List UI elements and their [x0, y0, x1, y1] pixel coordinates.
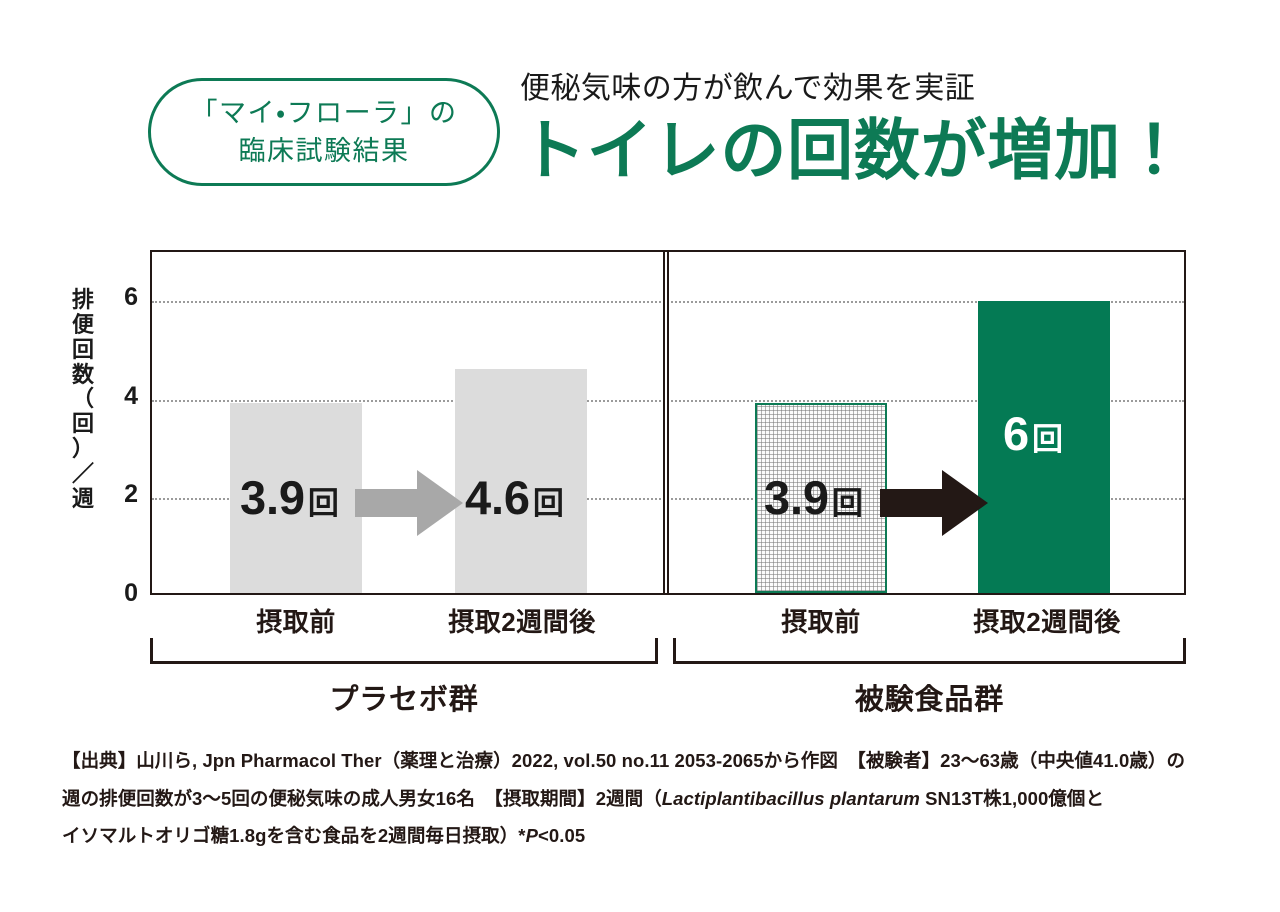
clinical-trial-badge: 「マイ・フローラ」の 臨床試験結果: [148, 78, 500, 186]
page-title: トイレの回数が増加！: [520, 115, 1260, 186]
group-bracket-placebo: [150, 638, 658, 664]
footnote: 【出典】山川ら, Jpn Pharmacol Ther（薬理と治療）2022, …: [62, 742, 1227, 855]
badge-line-1: 「マイ・フローラ」の: [190, 94, 457, 132]
headline-block: 便秘気味の方が飲んで効果を実証 トイレの回数が増加！: [520, 72, 1260, 186]
bar-value-placebo-before: 3.9回: [240, 474, 339, 521]
black-right-arrow-icon: [880, 470, 988, 536]
category-label-test-after: 摂取2週間後: [955, 602, 1139, 639]
bar-value-unit: 回: [533, 486, 564, 521]
bar-value-unit: 回: [832, 486, 863, 521]
group-label-test: 被験食品群: [673, 676, 1186, 718]
group-bracket-test: [673, 638, 1186, 664]
footnote-line-2: 週の排便回数が3〜5回の便秘気味の成人男女16名 【摂取期間】2週間（Lacti…: [62, 780, 1227, 818]
bar-value-test-after: 6回: [1003, 410, 1063, 457]
footnote-line-1: 【出典】山川ら, Jpn Pharmacol Ther（薬理と治療）2022, …: [62, 742, 1227, 780]
panel-divider: [663, 252, 669, 593]
category-label-test-before: 摂取前: [753, 602, 889, 639]
bar-value-number: 4.6: [465, 471, 530, 524]
p-value-symbol: P: [526, 825, 538, 846]
species-name: Lactiplantibacillus plantarum: [662, 788, 920, 809]
footnote-line-3-text-a: イソマルトオリゴ糖1.8gを含む食品を2週間毎日摂取）*: [62, 825, 526, 846]
badge-line-2: 臨床試験結果: [239, 132, 410, 170]
bar-value-number: 6: [1003, 407, 1029, 460]
bar-value-unit: 回: [1032, 422, 1063, 457]
plot-area: 3.9回 4.6回 3.9回 6回: [150, 250, 1186, 595]
footnote-line-1-text: 【出典】山川ら, Jpn Pharmacol Ther（薬理と治療）2022, …: [62, 750, 1185, 771]
category-label-placebo-after: 摂取2週間後: [430, 602, 614, 639]
bar-value-placebo-after: 4.6回: [465, 474, 564, 521]
footnote-line-3: イソマルトオリゴ糖1.8gを含む食品を2週間毎日摂取）*P<0.05: [62, 817, 1227, 855]
header-area: 「マイ・フローラ」の 臨床試験結果 便秘気味の方が飲んで効果を実証 トイレの回数…: [0, 0, 1280, 230]
bar-value-number: 3.9: [764, 471, 829, 524]
gray-right-arrow-icon: [355, 470, 463, 536]
y-tick-6: 6: [102, 285, 138, 310]
bar-chart: 排 便 回 数 （ 回 ） ／ 週 6 4 2 0 3.9回 4.6回: [0, 230, 1280, 730]
category-label-placebo-before: 摂取前: [228, 602, 364, 639]
footnote-line-2-text-a: 週の排便回数が3〜5回の便秘気味の成人男女16名 【摂取期間】2週間（: [62, 788, 662, 809]
footnote-line-3-text-b: <0.05: [538, 825, 585, 846]
bar-value-number: 3.9: [240, 471, 305, 524]
y-tick-0: 0: [102, 581, 138, 606]
subheadline: 便秘気味の方が飲んで効果を実証: [520, 72, 1260, 105]
y-tick-2: 2: [102, 482, 138, 507]
group-label-placebo: プラセボ群: [150, 676, 658, 718]
bar-value-test-before: 3.9回: [764, 474, 863, 521]
y-axis-ticks: 6 4 2 0: [94, 230, 138, 595]
footnote-line-2-text-b: SN13T株1,000億個と: [920, 788, 1104, 809]
bar-value-unit: 回: [308, 486, 339, 521]
y-tick-4: 4: [102, 384, 138, 409]
